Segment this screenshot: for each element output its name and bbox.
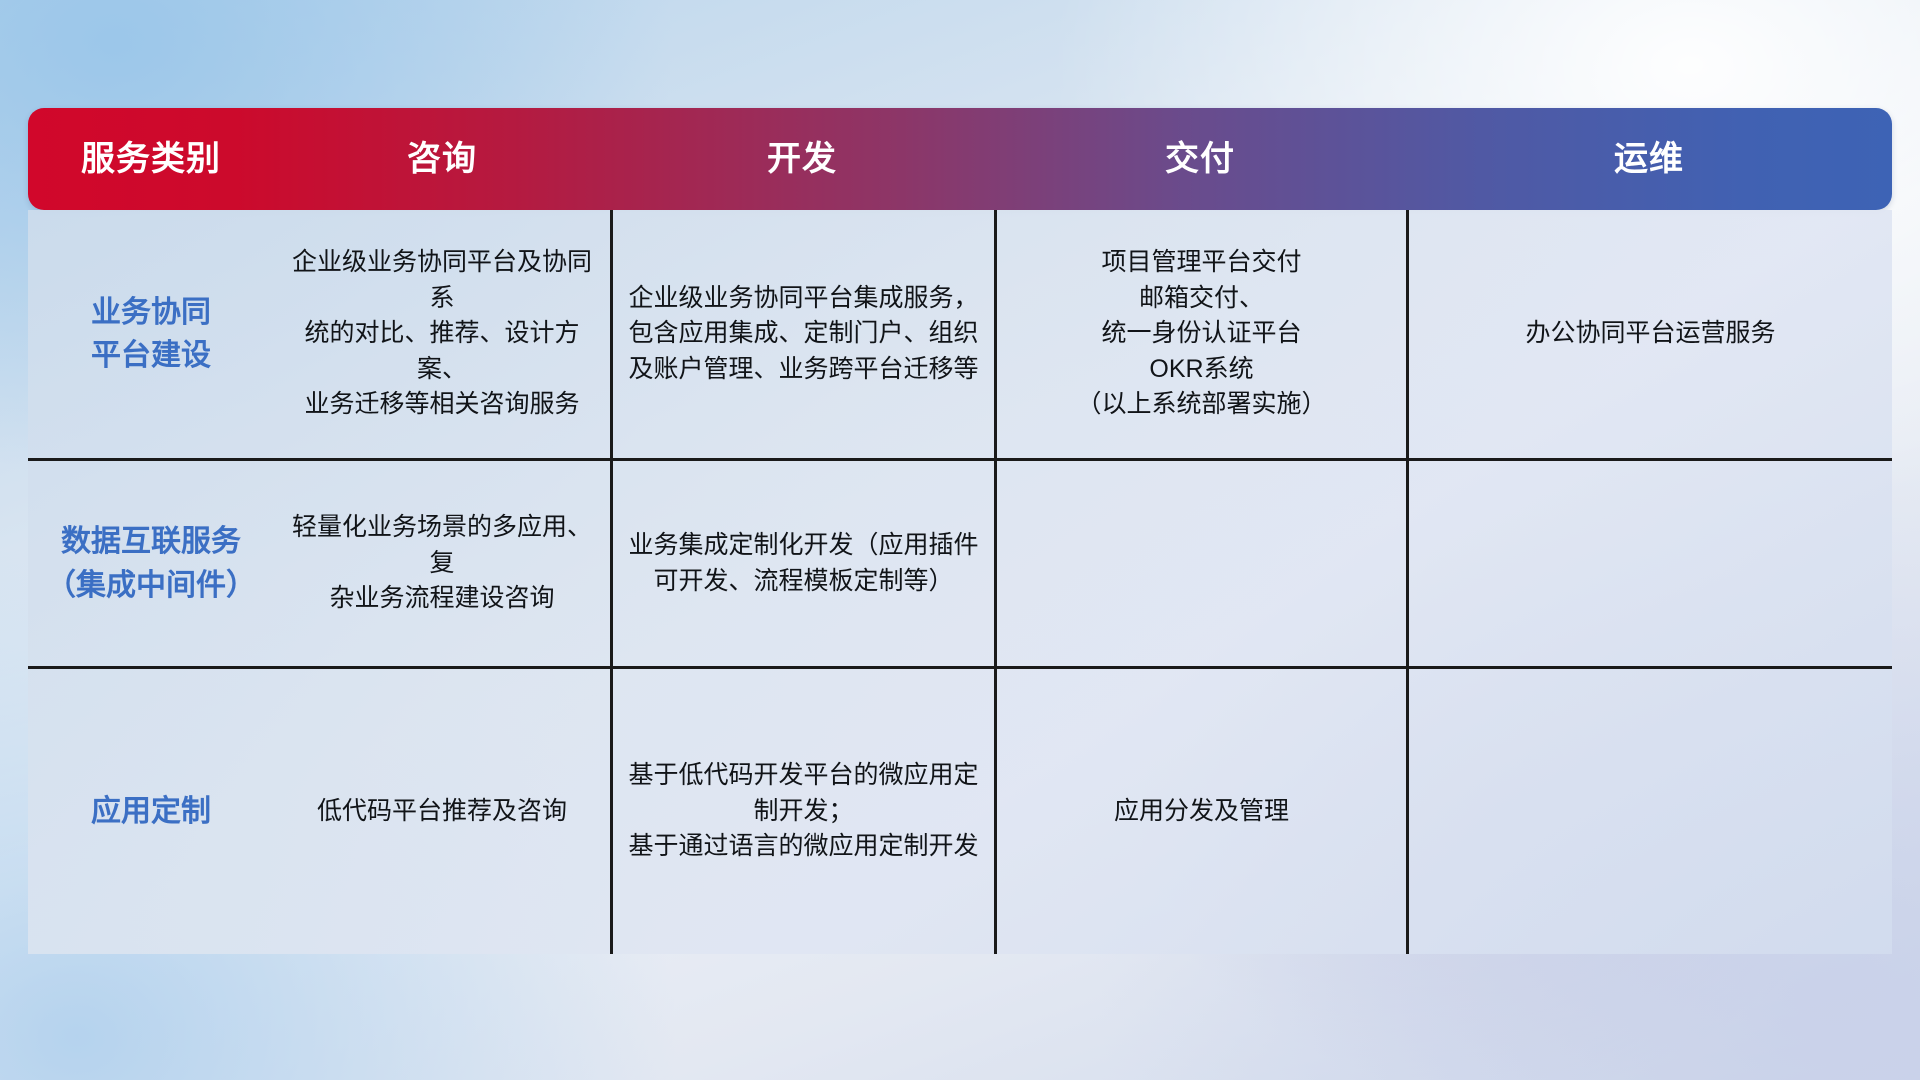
- cell-development-row1: 企业级业务协同平台集成服务， 包含应用集成、定制门户、组织 及账户管理、业务跨平…: [610, 210, 994, 458]
- table-row: 应用定制 低代码平台推荐及咨询 基于低代码开发平台的微应用定 制开发； 基于通过…: [28, 666, 1892, 954]
- column-header-delivery: 交付: [994, 142, 1406, 176]
- cell-development-row2: 业务集成定制化开发（应用插件 可开发、流程模板定制等）: [610, 461, 994, 666]
- column-header-operations: 运维: [1406, 142, 1892, 176]
- table-header-row: 服务类别 咨询 开发 交付 运维: [28, 108, 1892, 210]
- table-row: 业务协同 平台建设 企业级业务协同平台及协同系 统的对比、推荐、设计方案、 业务…: [28, 210, 1892, 458]
- cell-consulting-row1: 企业级业务协同平台及协同系 统的对比、推荐、设计方案、 业务迁移等相关咨询服务: [274, 210, 610, 458]
- column-header-category: 服务类别: [28, 142, 274, 176]
- cell-operations-row3: [1406, 669, 1892, 954]
- row-label-business-collaboration: 业务协同 平台建设: [28, 210, 274, 458]
- column-header-development: 开发: [610, 142, 994, 176]
- cell-consulting-row2: 轻量化业务场景的多应用、复 杂业务流程建设咨询: [274, 461, 610, 666]
- column-header-consulting: 咨询: [274, 142, 610, 176]
- row-label-app-customization: 应用定制: [28, 669, 274, 954]
- cell-consulting-row3: 低代码平台推荐及咨询: [274, 669, 610, 954]
- cell-operations-row1: 办公协同平台运营服务: [1406, 210, 1892, 458]
- row-label-data-interconnect: 数据互联服务 （集成中间件）: [28, 461, 274, 666]
- cell-delivery-row2: [994, 461, 1406, 666]
- table-body: 业务协同 平台建设 企业级业务协同平台及协同系 统的对比、推荐、设计方案、 业务…: [28, 210, 1892, 954]
- cell-operations-row2: [1406, 461, 1892, 666]
- cell-development-row3: 基于低代码开发平台的微应用定 制开发； 基于通过语言的微应用定制开发: [610, 669, 994, 954]
- cell-delivery-row1: 项目管理平台交付 邮箱交付、 统一身份认证平台 OKR系统 （以上系统部署实施）: [994, 210, 1406, 458]
- table-row: 数据互联服务 （集成中间件） 轻量化业务场景的多应用、复 杂业务流程建设咨询 业…: [28, 458, 1892, 666]
- cell-delivery-row3: 应用分发及管理: [994, 669, 1406, 954]
- service-matrix-table: 服务类别 咨询 开发 交付 运维 业务协同 平台建设 企业级业务协同平台及协同系…: [28, 108, 1892, 954]
